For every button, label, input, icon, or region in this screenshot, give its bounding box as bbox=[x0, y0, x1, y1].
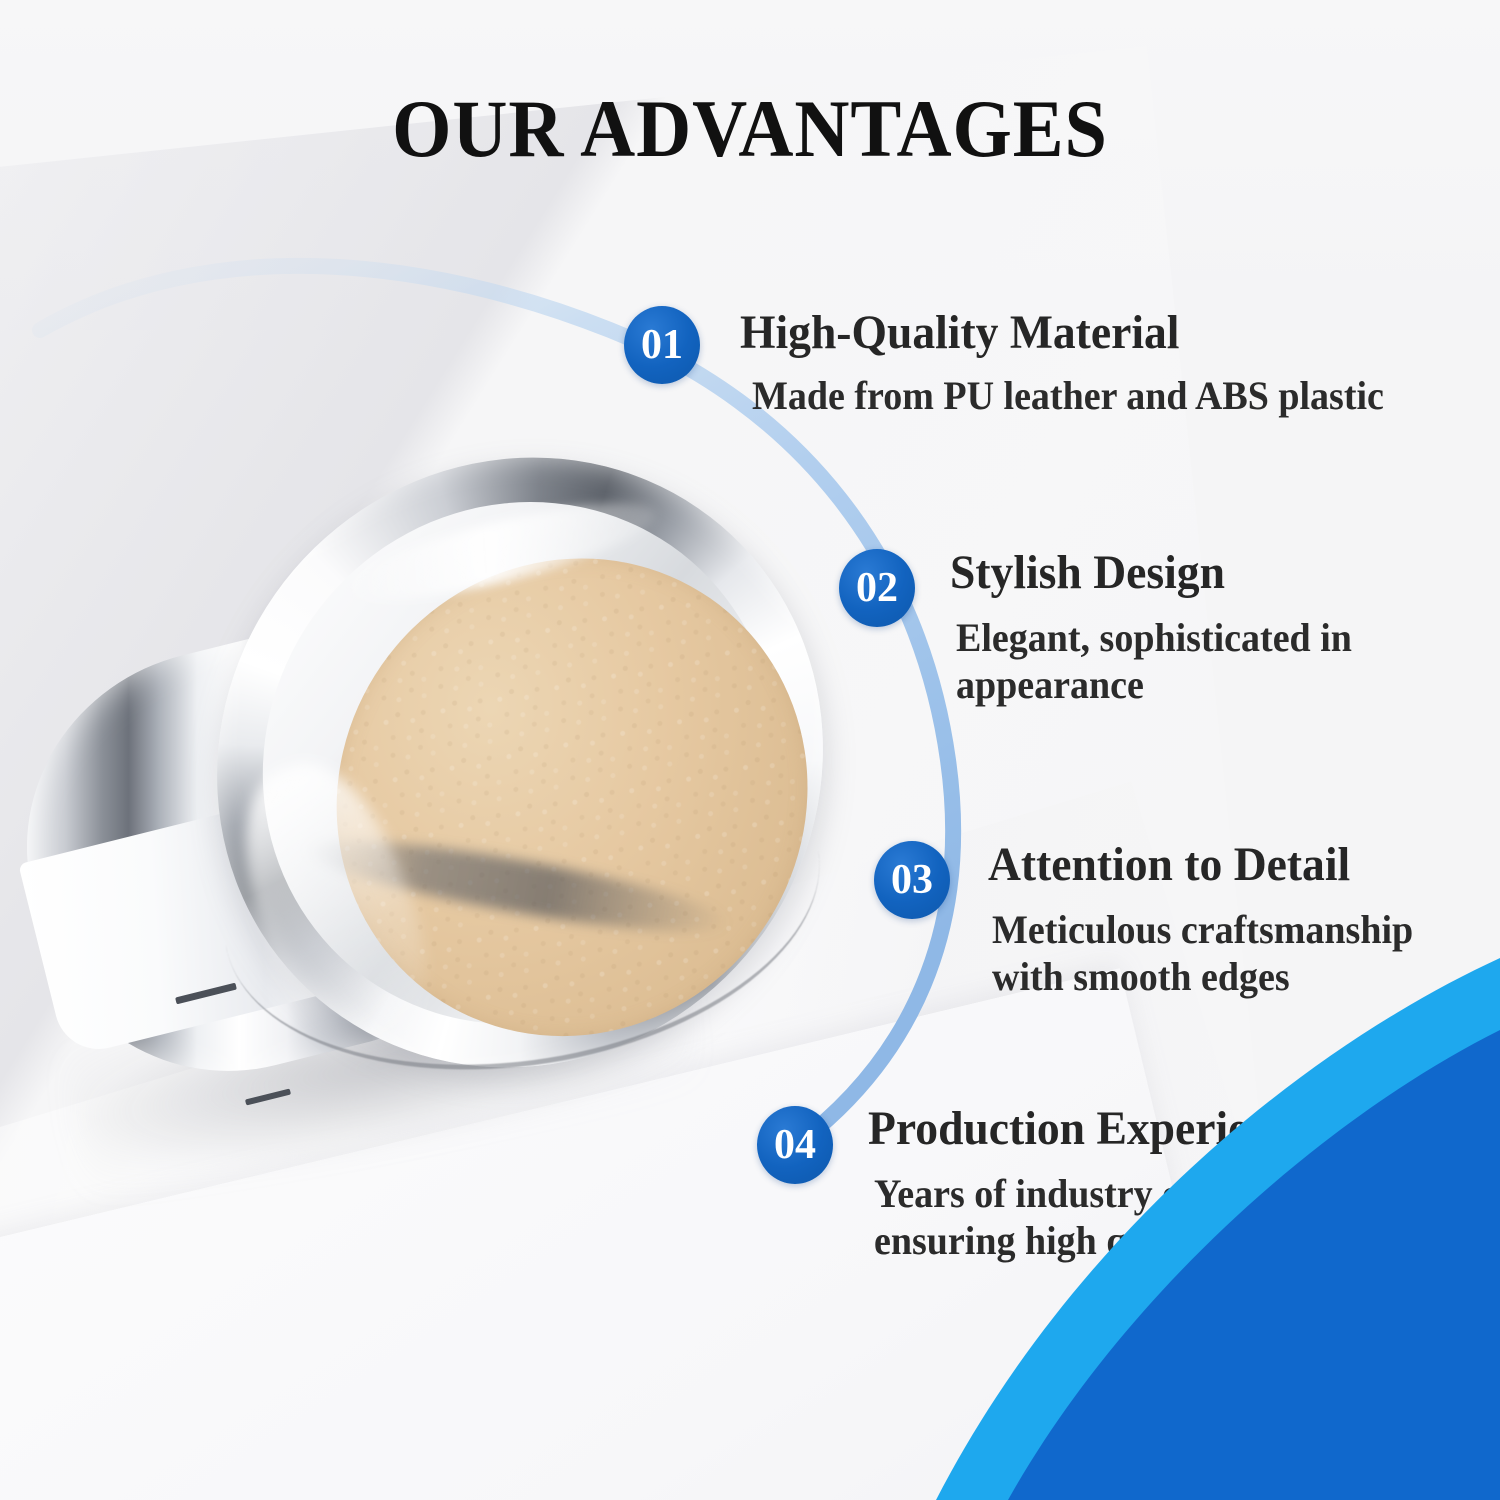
feature-badge-03: 03 bbox=[874, 841, 950, 919]
feature-heading-03: Attention to Detail bbox=[988, 840, 1350, 891]
product-image bbox=[10, 430, 910, 1190]
feature-badge-02: 02 bbox=[839, 549, 915, 627]
feature-badge-01: 01 bbox=[624, 306, 700, 384]
feature-heading-04: Production Experience bbox=[868, 1104, 1314, 1155]
feature-description-04: Years of industry experience, ensuring h… bbox=[874, 1170, 1406, 1264]
feature-badge-04: 04 bbox=[757, 1106, 833, 1184]
feature-description-03: Meticulous craftsmanship with smooth edg… bbox=[992, 906, 1448, 1000]
feature-heading-02: Stylish Design bbox=[950, 548, 1225, 599]
feature-description-01: Made from PU leather and ABS plastic bbox=[752, 372, 1436, 419]
feature-description-02: Elegant, sophisticated in appearance bbox=[956, 614, 1403, 708]
feature-heading-01: High-Quality Material bbox=[740, 308, 1179, 359]
infographic-canvas: OUR ADVANTAGES bbox=[0, 0, 1500, 1500]
page-title: OUR ADVANTAGES bbox=[53, 82, 1448, 176]
